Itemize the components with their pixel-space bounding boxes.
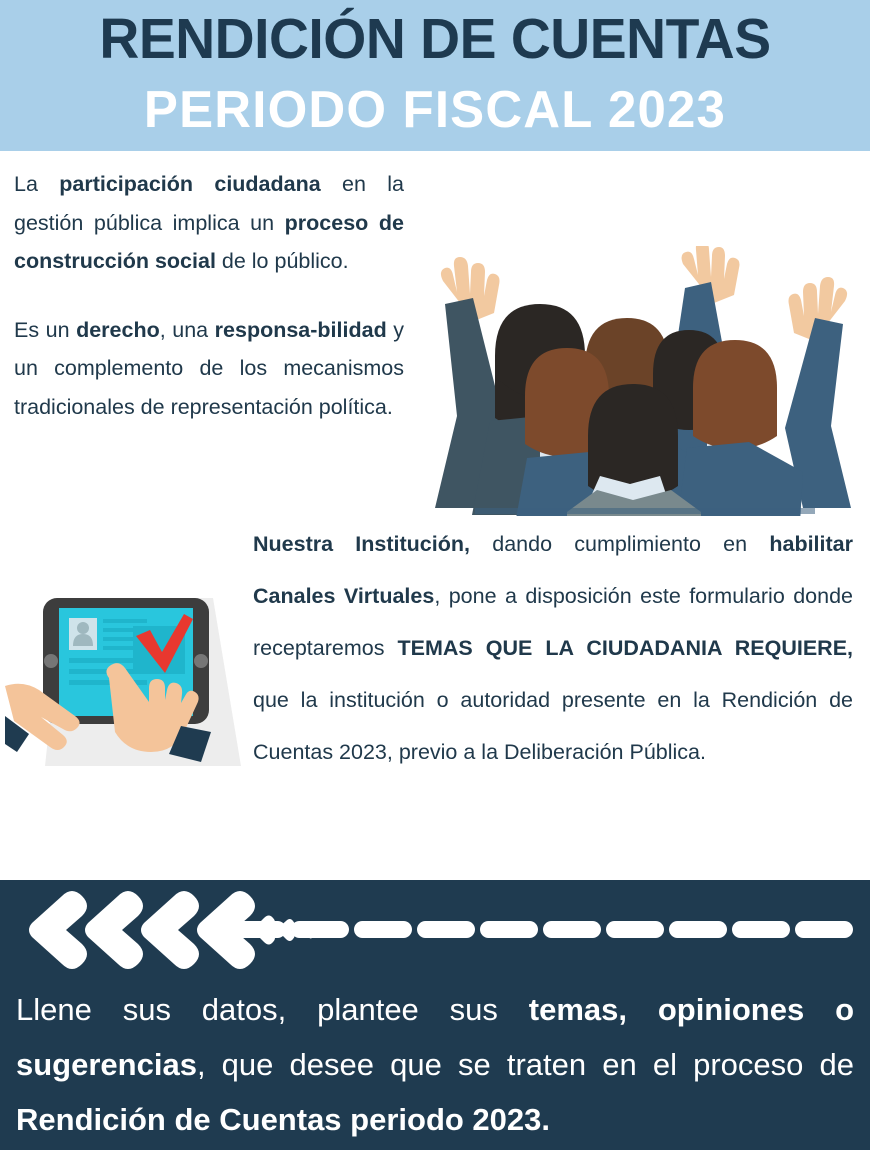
crowd-raised-hands-illustration [425,246,865,516]
header-banner: RENDICIÓN DE CUENTAS PERIODO FISCAL 2023 [0,0,870,151]
paragraph-nuestra-institucion: Nuestra Institución, dando cumplimiento … [253,518,853,778]
paragraph-derecho-responsabilidad: Es un derecho, una responsa-bilidad y un… [14,311,404,427]
footer-paragraph: Llene sus datos, plantee sus temas, opin… [16,982,854,1147]
page-subtitle: PERIODO FISCAL 2023 [9,80,862,140]
call-to-action-text: Llene sus datos, plantee sus temas, opin… [16,982,854,1147]
chevron-dash-divider [0,890,870,970]
intro-paragraph-block: La participación ciudadana en la gestión… [14,165,404,426]
hands-tablet-checkmark-illustration [5,566,245,781]
paragraph-participacion-ciudadana: La participación ciudadana en la gestión… [14,165,404,281]
institution-paragraph-block: Nuestra Institución, dando cumplimiento … [253,518,853,778]
footer-banner: Llene sus datos, plantee sus temas, opin… [0,880,870,1150]
body-content: La participación ciudadana en la gestión… [0,151,870,880]
page-title: RENDICIÓN DE CUENTAS [13,6,857,72]
large-chevrons [29,891,255,969]
dash-row [228,921,853,938]
